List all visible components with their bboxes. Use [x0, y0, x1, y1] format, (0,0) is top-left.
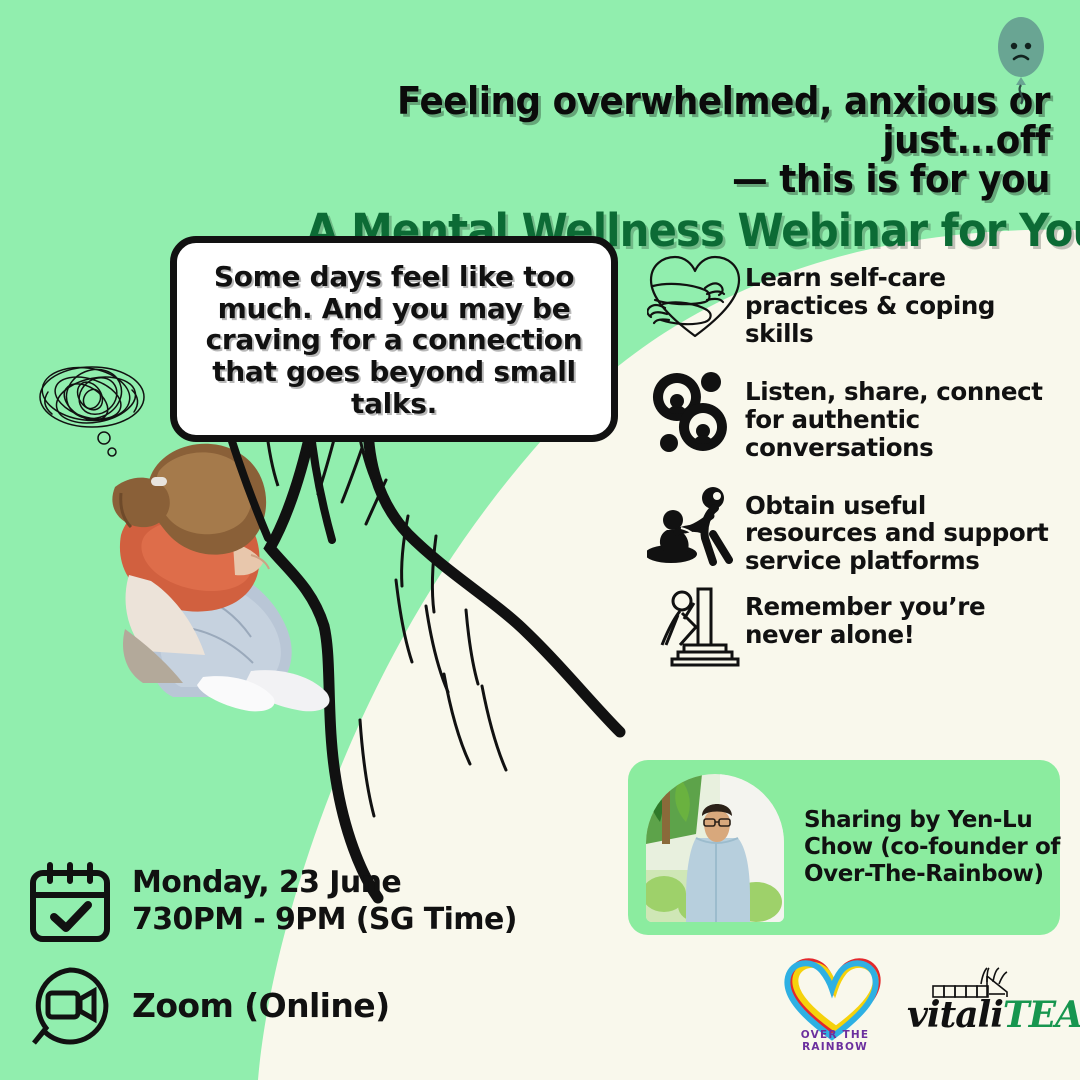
feature-item: Obtain useful resources and support serv…	[645, 478, 1065, 576]
vitalitea-logo: vitaliTEA	[907, 960, 1057, 1046]
speech-bubble-text: Some days feel like too much. And you ma…	[191, 261, 597, 419]
feature-item: Remember you’re never alone!	[645, 585, 1065, 665]
event-date-row: Monday, 23 June 730PM - 9PM (SG Time)	[24, 856, 517, 948]
vitalitea-word-b: TEA	[1003, 994, 1080, 1036]
heart-hug-icon	[645, 250, 745, 346]
person-leaning-pillar-icon	[645, 585, 745, 665]
feature-list: Learn self-care practices & coping skill…	[645, 250, 1065, 681]
poster-canvas: Feeling overwhelmed, anxious or just...o…	[0, 0, 1080, 1080]
headline-block: Feeling overwhelmed, anxious or just...o…	[250, 82, 1050, 255]
feature-item: Listen, share, connect for authentic con…	[645, 364, 1065, 462]
speaker-name-text: Sharing by Yen-Lu Chow (co-founder of Ov…	[804, 807, 1060, 887]
feature-label: Obtain useful resources and support serv…	[745, 478, 1065, 576]
headline-line-2: — this is for you	[298, 160, 1050, 199]
speaker-photo	[646, 774, 784, 922]
calendar-check-icon	[24, 856, 116, 948]
helping-hand-icon	[645, 478, 745, 574]
sad-face-balloon-icon	[990, 14, 1052, 112]
headline-line-1: Feeling overwhelmed, anxious or just...o…	[298, 82, 1050, 160]
feature-label: Learn self-care practices & coping skill…	[745, 250, 1065, 348]
event-date-line: Monday, 23 June	[132, 865, 517, 902]
video-call-bubble-icon	[24, 960, 116, 1052]
over-the-rainbow-wordmark: OVER THE RAINBOW	[779, 1029, 891, 1053]
speaker-card: Sharing by Yen-Lu Chow (co-founder of Ov…	[628, 760, 1060, 935]
event-time-line: 730PM - 9PM (SG Time)	[132, 902, 517, 939]
event-platform-row: Zoom (Online)	[24, 960, 390, 1052]
feature-label: Listen, share, connect for authentic con…	[745, 364, 1065, 462]
logo-strip: OVER THE RAINBOW vitaliTEA	[775, 948, 1065, 1058]
speech-bubble: Some days feel like too much. And you ma…	[170, 236, 618, 442]
over-the-rainbow-logo: OVER THE RAINBOW	[775, 949, 893, 1057]
event-platform-text: Zoom (Online)	[132, 986, 390, 1026]
feature-label: Remember you’re never alone!	[745, 585, 1065, 649]
feature-item: Learn self-care practices & coping skill…	[645, 250, 1065, 348]
event-date-text: Monday, 23 June 730PM - 9PM (SG Time)	[132, 865, 517, 938]
people-group-icon	[645, 364, 745, 460]
vitalitea-wordmark: vitaliTEA	[907, 994, 1080, 1036]
vitalitea-word-a: vitali	[907, 994, 1003, 1036]
